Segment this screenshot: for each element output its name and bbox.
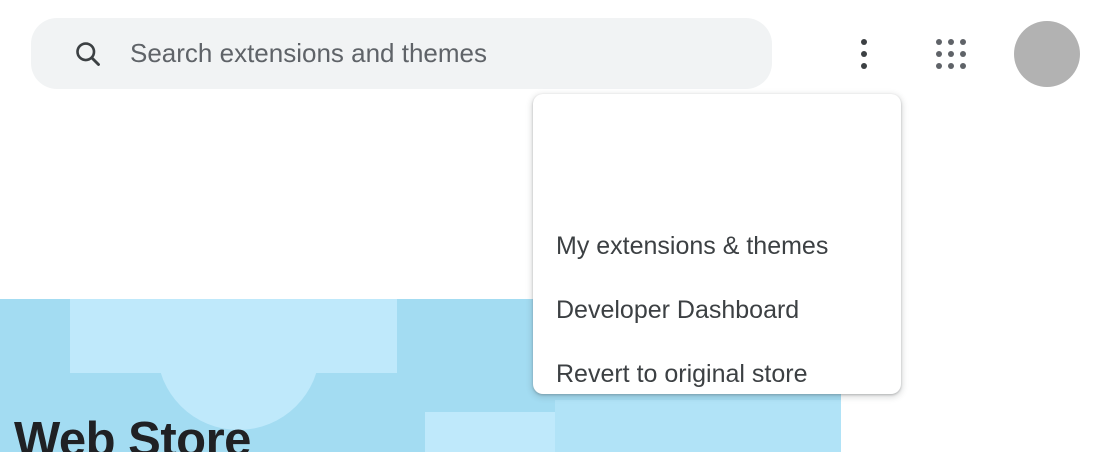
hero-decorative-rect-lower-left (425, 412, 555, 452)
apps-dot (948, 39, 954, 45)
search-icon (73, 39, 103, 69)
apps-grid-icon[interactable] (925, 28, 977, 80)
menu-item-label: My extensions & themes (556, 234, 828, 259)
apps-dot (960, 39, 966, 45)
menu-item-my-extensions-themes[interactable]: My extensions & themes (533, 220, 901, 272)
apps-dot (936, 39, 942, 45)
apps-dot (960, 51, 966, 57)
three-dots-vertical-icon[interactable] (838, 28, 890, 80)
overflow-dot (861, 51, 867, 57)
apps-dot (948, 63, 954, 69)
menu-item-label: Revert to original store (556, 362, 808, 387)
search-bar[interactable] (31, 18, 772, 89)
avatar[interactable] (1014, 21, 1080, 87)
overflow-dot (861, 63, 867, 69)
hero-title: Web Store (14, 416, 251, 452)
apps-dot (948, 51, 954, 57)
menu-item-label: Developer Dashboard (556, 298, 799, 323)
search-input[interactable] (130, 38, 730, 69)
overflow-dot (861, 39, 867, 45)
menu-item-developer-dashboard[interactable]: Developer Dashboard (533, 284, 901, 336)
hero-decorative-dome (157, 299, 320, 430)
menu-item-revert-to-original-store[interactable]: Revert to original store (533, 348, 901, 394)
apps-dot (960, 63, 966, 69)
apps-dot (936, 51, 942, 57)
apps-grid-dots (936, 39, 966, 69)
apps-dot (936, 63, 942, 69)
hero-decorative-rect-lower-right (555, 400, 841, 452)
overflow-menu: My extensions & themes Developer Dashboa… (533, 94, 901, 394)
page-stage: Web Store My extensions & themes (0, 0, 1120, 452)
